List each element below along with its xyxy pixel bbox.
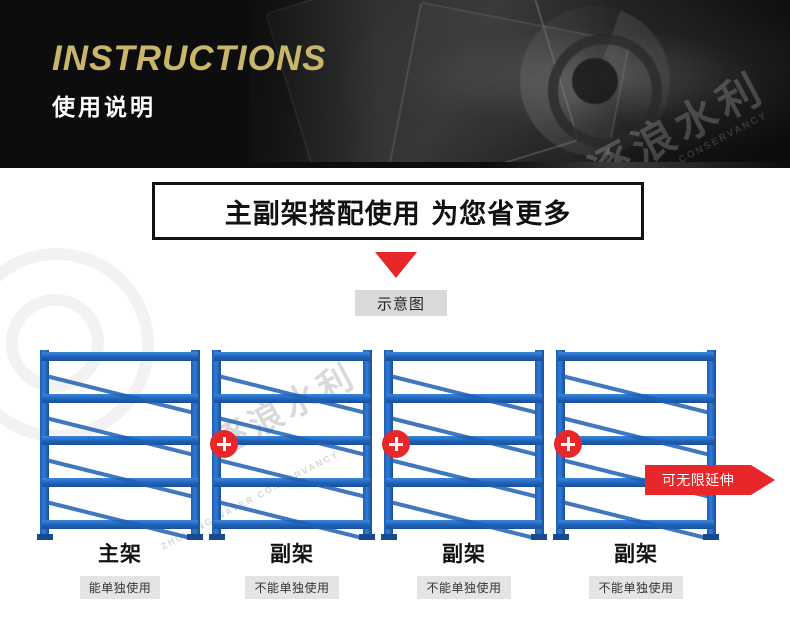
rack-label-tag: 不能单独使用 [589,576,682,599]
plus-icon [554,430,582,458]
plus-icon [382,430,410,458]
banner-text-group: INSTRUCTIONS 使用说明 [52,38,327,122]
plus-icon [210,430,238,458]
rack-label-row: 主架 能单独使用 副架 不能单独使用 副架 不能单独使用 副架 不能单独使用 [40,538,750,598]
headline-text: 主副架搭配使用 为您省更多 [225,192,571,231]
rack-diagram [40,350,750,540]
headline-box: 主副架搭配使用 为您省更多 [152,182,644,240]
rack-unit-main [40,350,200,535]
rack-shelf [386,352,542,361]
rack-label-tag: 不能单独使用 [417,576,510,599]
rack-label-main: 主架 能单独使用 [40,538,200,599]
rack-shelf [42,352,198,361]
page-root: INSTRUCTIONS 使用说明 逐浪水利 ZHULANG WATER CON… [0,0,790,634]
rack-label-tag: 不能单独使用 [245,576,338,599]
header-banner: INSTRUCTIONS 使用说明 逐浪水利 ZHULANG WATER CON… [0,0,790,168]
rack-label-name: 主架 [40,538,200,568]
banner-title-chinese: 使用说明 [52,88,327,122]
banner-bottom-edge [0,162,790,168]
rack-shelf [558,352,714,361]
down-arrow-icon [375,252,417,278]
banner-title-english: INSTRUCTIONS [52,38,327,80]
schematic-tag: 示意图 [355,290,447,316]
extension-arrow-label: 可无限延伸 [662,470,735,490]
rack-label-aux-2: 副架 不能单独使用 [384,538,544,599]
rack-label-name: 副架 [384,538,544,568]
rack-label-aux-3: 副架 不能单独使用 [556,538,716,599]
banner-swirl-decoration [520,6,670,156]
rack-label-name: 副架 [556,538,716,568]
extension-arrow: 可无限延伸 [645,465,775,495]
rack-label-aux-1: 副架 不能单独使用 [212,538,372,599]
schematic-tag-label: 示意图 [377,293,425,314]
rack-label-tag: 能单独使用 [80,576,161,599]
rack-label-name: 副架 [212,538,372,568]
rack-shelf [214,352,370,361]
extension-arrow-body: 可无限延伸 [645,465,751,495]
right-arrow-icon [751,465,775,495]
